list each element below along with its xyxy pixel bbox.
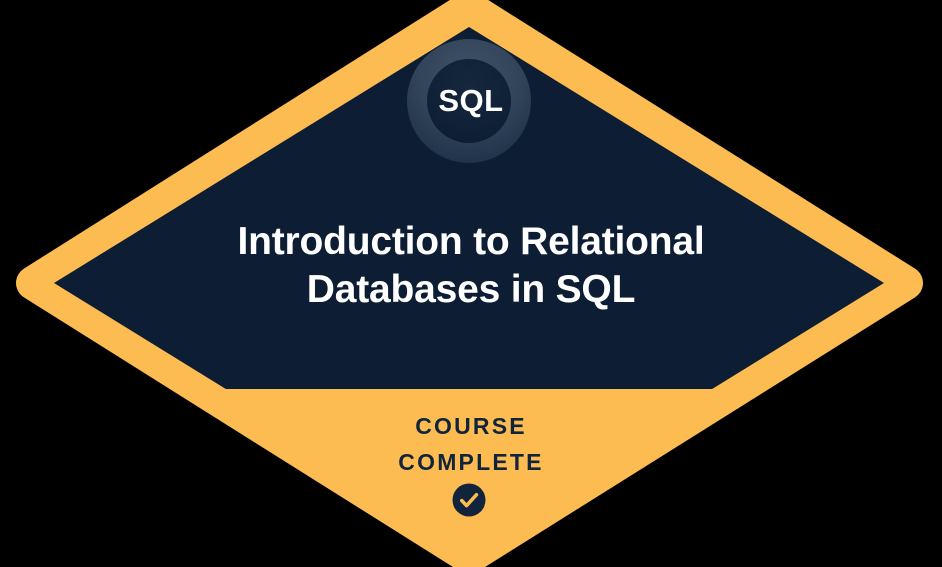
sql-ring-inner <box>427 59 511 143</box>
check-disc <box>453 484 486 517</box>
badge-artwork <box>0 0 942 567</box>
check-circle-icon <box>453 484 486 517</box>
badge-stage: SQL Introduction to Relational Databases… <box>0 0 942 567</box>
sql-ring <box>407 39 531 163</box>
